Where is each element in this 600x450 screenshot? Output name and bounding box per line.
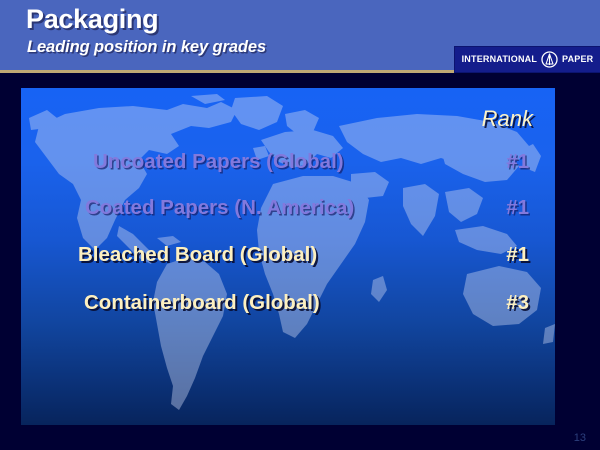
table-row: Bleached Board (Global)#1 bbox=[21, 243, 555, 281]
international-paper-logo: INTERNATIONAL PAPER bbox=[455, 47, 600, 72]
content-panel: Rank Uncoated Papers (Global)#1Coated Pa… bbox=[21, 88, 555, 425]
row-rank-value: #1 bbox=[506, 243, 529, 267]
table-row: Containerboard (Global)#3 bbox=[21, 291, 555, 329]
ranking-table: Rank Uncoated Papers (Global)#1Coated Pa… bbox=[21, 88, 555, 425]
tree-in-circle-icon bbox=[541, 51, 558, 68]
page-number: 13 bbox=[574, 432, 586, 444]
row-rank-value: #1 bbox=[506, 150, 529, 174]
row-rank-value: #1 bbox=[506, 196, 529, 220]
row-rank-value: #3 bbox=[506, 291, 529, 315]
table-row: Uncoated Papers (Global)#1 bbox=[21, 150, 555, 188]
page-title: Packaging bbox=[26, 4, 158, 35]
logo-word-international: INTERNATIONAL bbox=[462, 55, 537, 64]
table-row: Coated Papers (N. America)#1 bbox=[21, 196, 555, 234]
slide: Packaging Leading position in key grades… bbox=[0, 0, 600, 450]
row-label: Containerboard (Global) bbox=[84, 291, 320, 315]
row-label: Bleached Board (Global) bbox=[78, 243, 317, 267]
logo-word-paper: PAPER bbox=[562, 55, 593, 64]
row-label: Coated Papers (N. America) bbox=[85, 196, 354, 220]
rank-column-header: Rank bbox=[482, 106, 533, 132]
row-label: Uncoated Papers (Global) bbox=[93, 150, 344, 174]
page-subtitle: Leading position in key grades bbox=[27, 38, 266, 57]
